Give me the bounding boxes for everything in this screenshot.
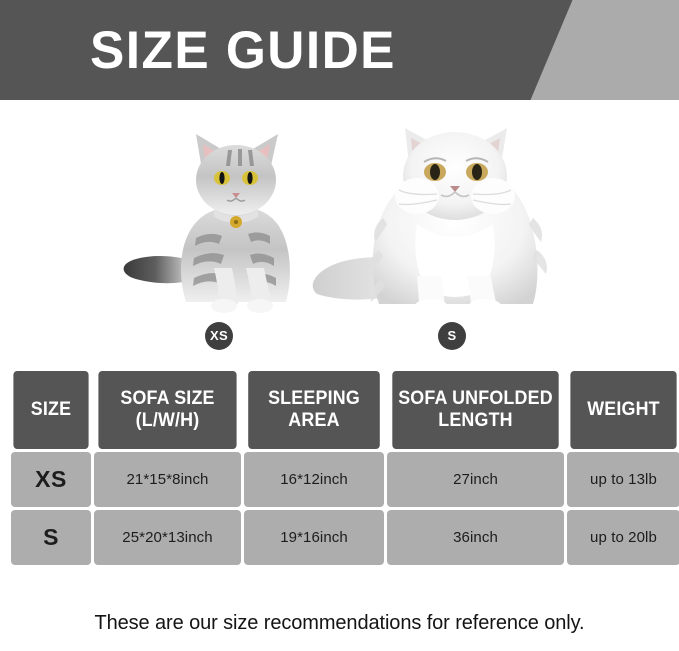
table-row: XS 21*15*8inch 16*12inch 27inch up to 13…: [11, 452, 679, 507]
column-header-size: SIZE: [13, 371, 88, 449]
column-header-weight-line1: WEIGHT: [587, 399, 660, 420]
silver-tabby-kitten-icon: [110, 118, 330, 318]
illustration-area: XS S: [0, 100, 679, 362]
column-header-sleeping-area-line2: AREA: [288, 410, 339, 431]
column-header-sofa-unfolded-length: SOFA UNFOLDED LENGTH: [392, 371, 558, 449]
header-banner: SIZE GUIDE: [0, 0, 679, 100]
cell-sleeping-area: 19*16inch: [244, 510, 384, 565]
column-header-sofa-size-line1: SOFA SIZE: [120, 388, 214, 409]
column-header-sleeping-area-line1: SLEEPING: [268, 388, 360, 409]
table-header-row: SIZE SOFA SIZE (L/W/H) SLEEPING AREA SOF…: [11, 371, 679, 449]
column-header-sofa-size-line2: (L/W/H): [136, 410, 200, 431]
banner-diagonal-accent: [529, 0, 679, 100]
cell-size: S: [11, 510, 91, 565]
cell-weight: up to 20lb: [567, 510, 679, 565]
page-title: SIZE GUIDE: [90, 18, 396, 84]
column-header-sofa-unfolded-length-line2: LENGTH: [438, 410, 513, 431]
column-header-weight: WEIGHT: [570, 371, 676, 449]
cat-illustration-xs: [110, 118, 330, 318]
cell-sofa-unfolded-length: 36inch: [387, 510, 564, 565]
table-row: S 25*20*13inch 19*16inch 36inch up to 20…: [11, 510, 679, 565]
cell-weight: up to 13lb: [567, 452, 679, 507]
column-header-size-line1: SIZE: [31, 399, 71, 420]
cell-size: XS: [11, 452, 91, 507]
size-badge-s: S: [438, 322, 466, 350]
cell-sofa-unfolded-length: 27inch: [387, 452, 564, 507]
cell-sofa-size: 21*15*8inch: [94, 452, 241, 507]
white-persian-cat-icon: [305, 108, 600, 318]
cat-illustration-s: [305, 108, 600, 318]
cell-sofa-size: 25*20*13inch: [94, 510, 241, 565]
column-header-sleeping-area: SLEEPING AREA: [248, 371, 380, 449]
footer-note: These are our size recommendations for r…: [0, 612, 679, 635]
cell-sleeping-area: 16*12inch: [244, 452, 384, 507]
column-header-sofa-unfolded-length-line1: SOFA UNFOLDED: [398, 388, 553, 409]
column-header-sofa-size: SOFA SIZE (L/W/H): [98, 371, 236, 449]
size-table: SIZE SOFA SIZE (L/W/H) SLEEPING AREA SOF…: [8, 368, 679, 568]
size-badge-xs: XS: [205, 322, 233, 350]
